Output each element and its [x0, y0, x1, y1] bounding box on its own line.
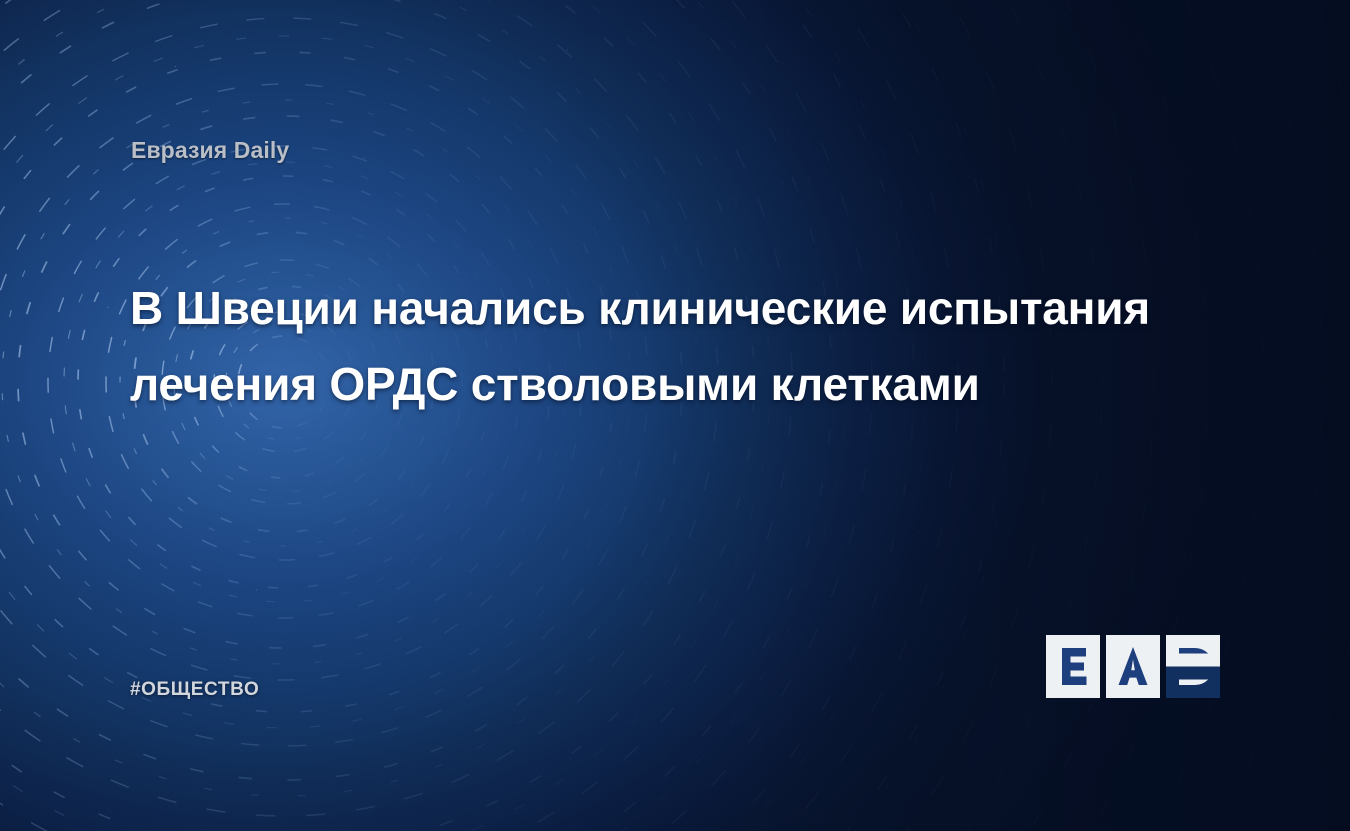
news-cover-card: Евразия Daily В Швеции начались клиничес…	[0, 0, 1350, 831]
headline-title: В Швеции начались клинические испытания …	[130, 270, 1205, 422]
brand-label: Евразия Daily	[131, 137, 289, 164]
logo-tile-e	[1046, 635, 1100, 698]
eadaily-logo[interactable]	[1046, 635, 1220, 698]
logo-tile-a	[1106, 635, 1160, 698]
category-tag[interactable]: #ОБЩЕСТВО	[130, 679, 259, 701]
card-content: Евразия Daily В Швеции начались клиничес…	[0, 0, 1350, 831]
logo-tile-d-split	[1166, 635, 1220, 698]
